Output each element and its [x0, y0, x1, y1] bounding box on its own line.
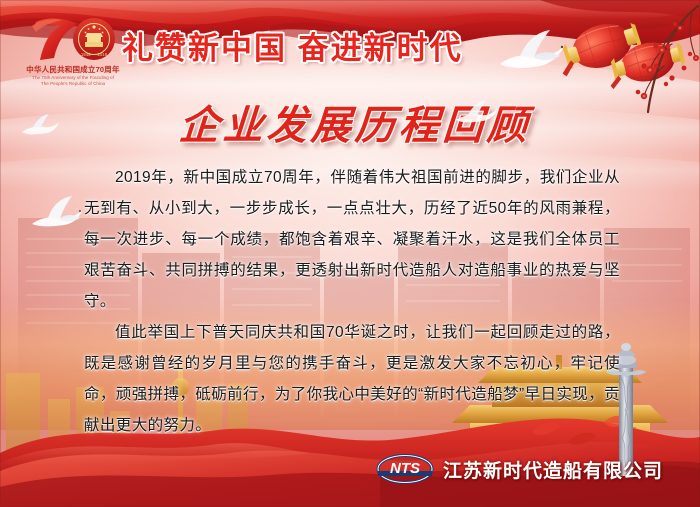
- poster-canvas: 1949 — 2019 中华人民共和国成立70周年 The 70th Anniv…: [0, 0, 700, 507]
- nts-logo-text: NTS: [390, 460, 420, 477]
- nts-logo-icon: NTS: [376, 454, 434, 484]
- footer-brand: NTS 江苏新时代造船有限公司: [376, 452, 663, 486]
- emblem-en-line2: The People's Republic of China: [41, 81, 105, 86]
- plum-blossom-branch: [580, 0, 700, 120]
- company-name: 江苏新时代造船有限公司: [443, 456, 663, 483]
- headline-slogan: 礼赞新中国 奋进新时代: [122, 27, 552, 71]
- emblem-years: 1949 — 2019: [81, 52, 108, 57]
- emblem-en-line1: The 70th Anniversary of the Founding of: [32, 75, 114, 80]
- anniversary-emblem: 1949 — 2019 中华人民共和国成立70周年 The 70th Anniv…: [14, 12, 132, 96]
- peace-dove: [26, 194, 88, 236]
- paragraph-1: 2019年，新中国成立70周年，伴随着伟大祖国前进的脚步，我们企业从无到有、从小…: [84, 162, 620, 317]
- peace-dove: [18, 112, 62, 142]
- body-copy: 2019年，新中国成立70周年，伴随着伟大祖国前进的脚步，我们企业从无到有、从小…: [84, 162, 620, 441]
- page-title: 企业发展历程回顾: [133, 98, 577, 154]
- emblem-en-caption: The 70th Anniversary of the Founding of …: [14, 75, 132, 87]
- paragraph-2: 值此举国上下普天同庆共和国70华诞之时，让我们一起回顾走过的路，既是感谢曾经的岁…: [84, 317, 620, 441]
- emblem-cn-caption: 中华人民共和国成立70周年: [14, 64, 132, 75]
